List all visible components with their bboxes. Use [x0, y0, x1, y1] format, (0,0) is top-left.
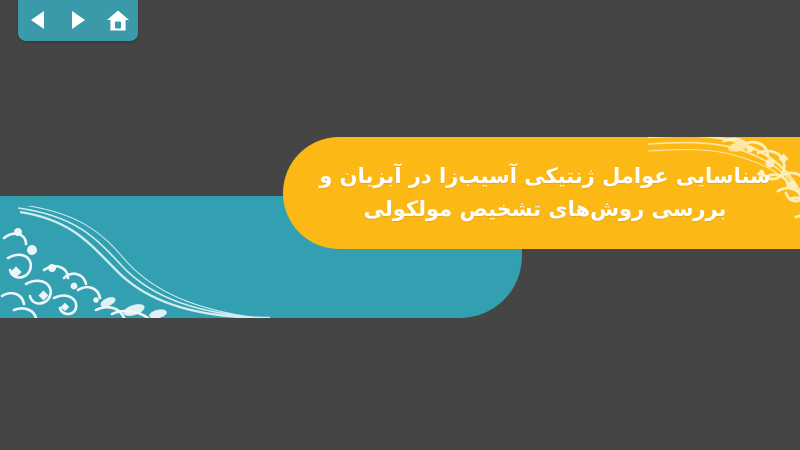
page-title: شناسایی عوامل ژنتیکی آسیب‌زا در آبزیان و… — [295, 160, 800, 225]
home-icon — [106, 9, 130, 32]
page-title-line-1: شناسایی عوامل ژنتیکی آسیب‌زا در آبزیان و — [319, 160, 770, 193]
presentation-slide: شناسایی عوامل ژنتیکی آسیب‌زا در آبزیان و… — [0, 0, 800, 450]
next-slide-button[interactable] — [63, 6, 93, 34]
page-title-line-2: بررسی روش‌های تشخیص مولکولی — [319, 193, 770, 226]
previous-slide-icon — [29, 10, 47, 30]
slide-title-banner: شناسایی عوامل ژنتیکی آسیب‌زا در آبزیان و… — [283, 137, 800, 249]
previous-slide-button[interactable] — [23, 6, 53, 34]
arabesque-corner-ornament — [0, 206, 270, 318]
home-button[interactable] — [103, 6, 133, 34]
next-slide-icon — [69, 10, 87, 30]
slide-navigation-bar — [18, 0, 138, 41]
